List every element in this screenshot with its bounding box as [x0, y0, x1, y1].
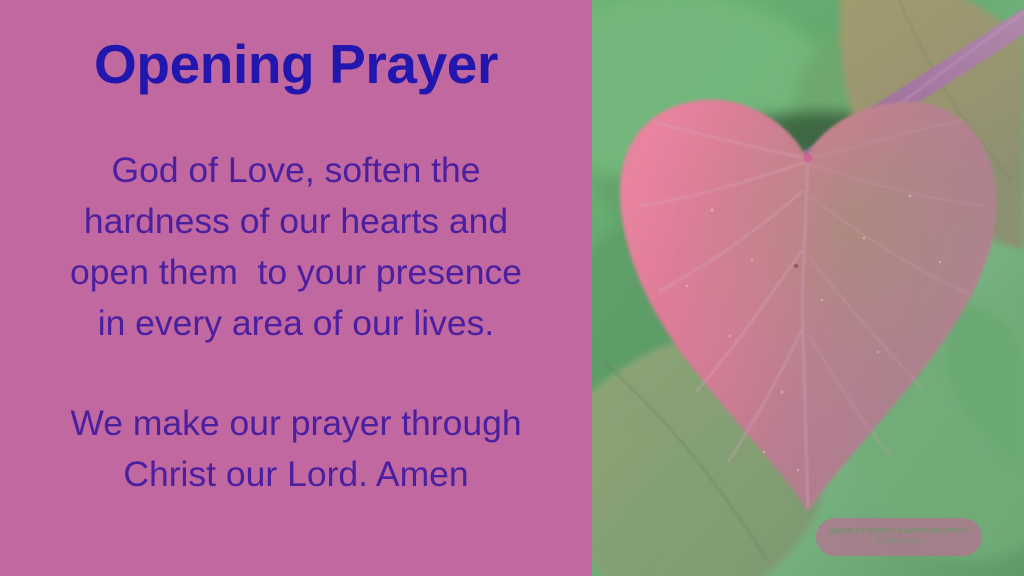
page-title: Opening Prayer [0, 36, 592, 94]
leaf-photo-graphic [592, 0, 1024, 576]
leaf-photograph: IMAGE BY GEORGIA MATTHEWS FROM PIXABAY.C… [592, 0, 1024, 576]
prayer-paragraph-2: We make our prayer through Christ our Lo… [22, 398, 570, 500]
prayer-paragraph-1: God of Love, soften the hardness of our … [22, 145, 570, 349]
prayer-slide: Opening Prayer God of Love, soften the h… [0, 0, 1024, 576]
text-panel: Opening Prayer God of Love, soften the h… [0, 0, 592, 576]
